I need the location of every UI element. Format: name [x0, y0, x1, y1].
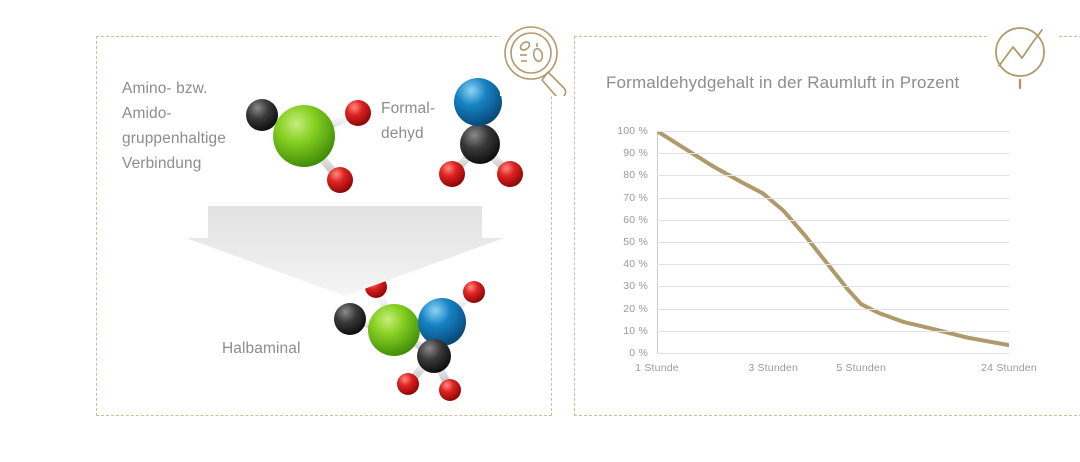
y-tick-label: 10 % [623, 325, 648, 337]
x-tick-label: 24 Stunden [981, 362, 1037, 374]
gridline [657, 353, 1009, 354]
y-tick-label: 80 % [623, 169, 648, 181]
gridline [657, 331, 1009, 332]
gridline [657, 131, 1009, 132]
gridline [657, 175, 1009, 176]
line-chart: 100 %90 %80 %70 %60 %50 %40 %30 %20 %10 … [600, 122, 1020, 382]
y-tick-label: 50 % [623, 236, 648, 248]
gridline [657, 153, 1009, 154]
amino-compound-molecule [236, 78, 386, 198]
y-tick-label: 40 % [623, 258, 648, 270]
infographic-stage: Amino- bzw. Amido- gruppenhaltige Verbin… [0, 0, 1080, 462]
y-tick-label: 0 % [629, 347, 648, 359]
gridline [657, 309, 1009, 310]
y-axis-labels: 100 %90 %80 %70 %60 %50 %40 %30 %20 %10 … [600, 122, 652, 344]
y-tick-label: 60 % [623, 214, 648, 226]
y-tick-label: 30 % [623, 280, 648, 292]
gridline [657, 198, 1009, 199]
magnifier-germ-icon [500, 22, 574, 96]
y-tick-label: 90 % [623, 147, 648, 159]
gridline [657, 242, 1009, 243]
gridline [657, 286, 1009, 287]
chart-title: Formaldehydgehalt in der Raumluft in Pro… [606, 73, 959, 93]
reaction-arrow [186, 206, 504, 296]
x-tick-label: 1 Stunde [635, 362, 679, 374]
gridline [657, 220, 1009, 221]
y-tick-label: 20 % [623, 303, 648, 315]
x-tick-label: 5 Stunden [836, 362, 886, 374]
plot-area [657, 131, 1009, 353]
x-axis-labels: 1 Stunde3 Stunden5 Stunden24 Stunden [657, 362, 1009, 382]
y-tick-label: 70 % [623, 192, 648, 204]
trend-chart-circle-icon [988, 20, 1058, 90]
y-tick-label: 100 % [617, 125, 648, 137]
gridline [657, 264, 1009, 265]
x-tick-label: 3 Stunden [748, 362, 798, 374]
